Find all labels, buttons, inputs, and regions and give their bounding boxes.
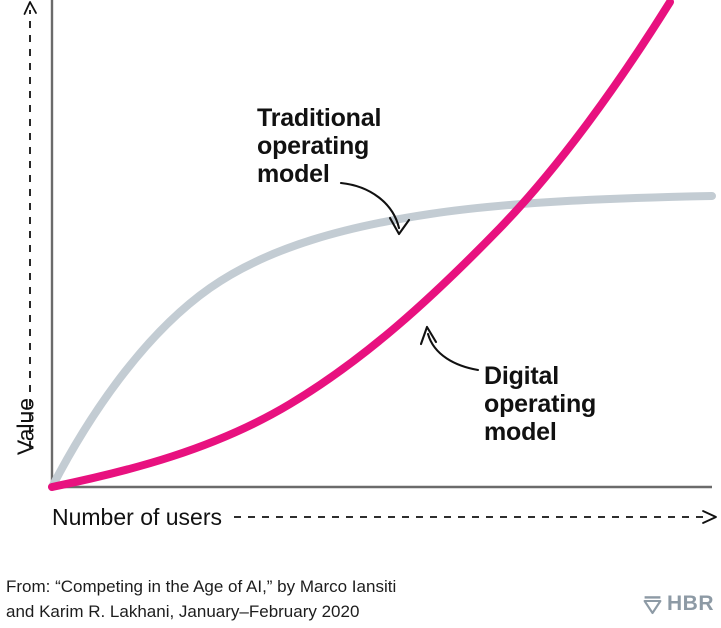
hbr-wordmark: HBR: [667, 592, 714, 616]
chart-canvas: [0, 0, 721, 548]
chart-page: Traditional operating model Digital oper…: [0, 0, 721, 628]
chart-figure: Traditional operating model Digital oper…: [0, 0, 721, 548]
annotation-arrow-digital: [421, 327, 478, 370]
hbr-shield-icon: [643, 594, 662, 615]
series-label-traditional: Traditional operating model: [257, 104, 381, 188]
source-attribution: From: “Competing in the Age of AI,” by M…: [6, 574, 396, 624]
x-axis-title: Number of users: [52, 504, 222, 531]
figure-footer: From: “Competing in the Age of AI,” by M…: [0, 548, 721, 628]
series-label-digital: Digital operating model: [484, 362, 596, 446]
x-axis-direction-arrow: [234, 511, 716, 523]
y-axis-title: Value: [13, 377, 40, 477]
hbr-logo: HBR: [643, 592, 714, 616]
